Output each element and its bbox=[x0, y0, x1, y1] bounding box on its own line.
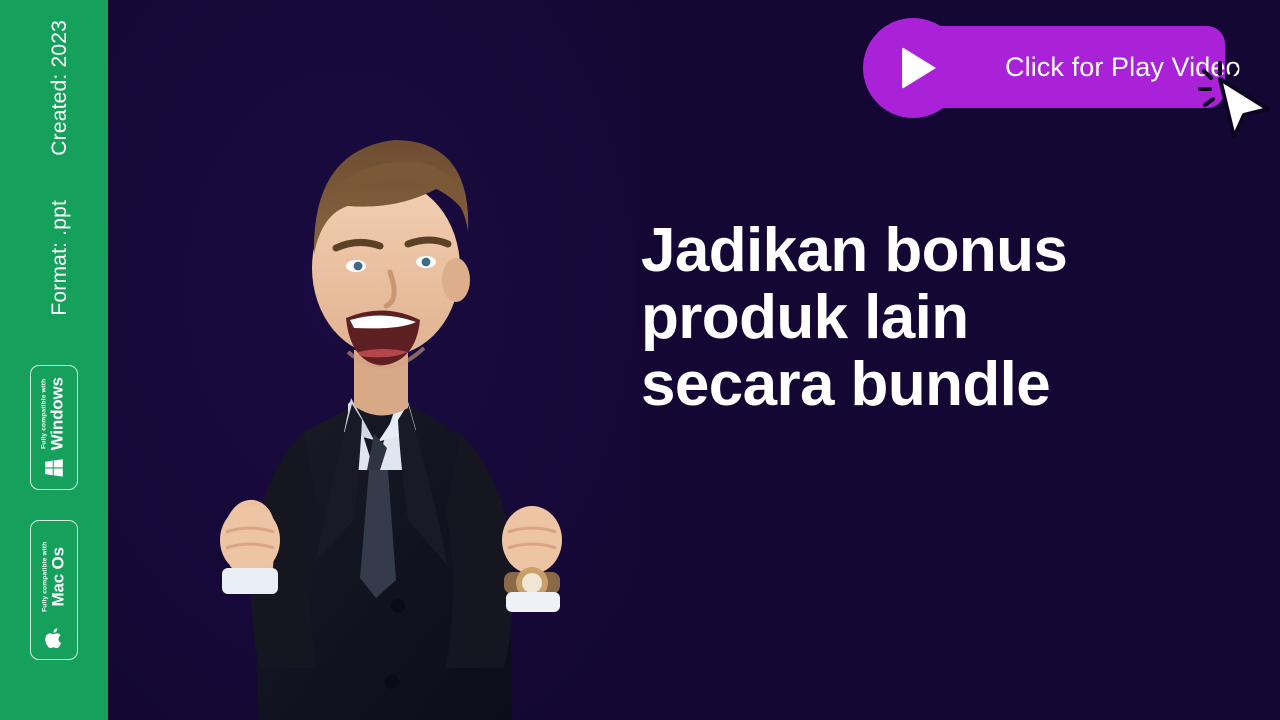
badge-windows-compatible: Windows Fully compatible with bbox=[30, 365, 78, 490]
headline-line-1: Jadikan bonus bbox=[641, 218, 1201, 285]
file-format-label: Format: .ppt bbox=[48, 200, 72, 316]
play-video-pill[interactable]: Click for Play Video bbox=[919, 26, 1225, 108]
badge-windows-textwrap: Windows Fully compatible with bbox=[31, 375, 77, 453]
mouse-cursor-click-icon bbox=[1198, 57, 1274, 139]
apple-logo-icon bbox=[42, 626, 66, 650]
badge-windows-rotated-text: Windows Fully compatible with bbox=[42, 377, 66, 450]
page-title: Jadikan bonus produk lain secara bundle bbox=[641, 218, 1201, 419]
headline-line-3: secara bundle bbox=[641, 352, 1201, 419]
sidebar-meta-group: Created: 2023 Format: .ppt bbox=[0, 0, 108, 350]
left-green-sidebar: Created: 2023 Format: .ppt Windows Fully… bbox=[0, 0, 108, 720]
headline-line-2: produk lain bbox=[641, 285, 1201, 352]
badge-mac-textwrap: Mac Os Fully compatible with bbox=[31, 530, 77, 623]
presentation-slide: Created: 2023 Format: .ppt Windows Fully… bbox=[0, 0, 1280, 720]
hero-person-photo bbox=[108, 0, 638, 720]
badge-windows-title: Windows bbox=[49, 377, 66, 450]
windows-logo-icon bbox=[42, 456, 66, 480]
badge-mac-compatible: Mac Os Fully compatible with bbox=[30, 520, 78, 660]
play-triangle-icon bbox=[902, 47, 936, 89]
badge-mac-rotated-text: Mac Os Fully compatible with bbox=[42, 541, 66, 611]
badge-mac-title: Mac Os bbox=[49, 547, 66, 606]
created-year-label: Created: 2023 bbox=[48, 20, 72, 156]
play-video-circle[interactable] bbox=[863, 18, 963, 118]
